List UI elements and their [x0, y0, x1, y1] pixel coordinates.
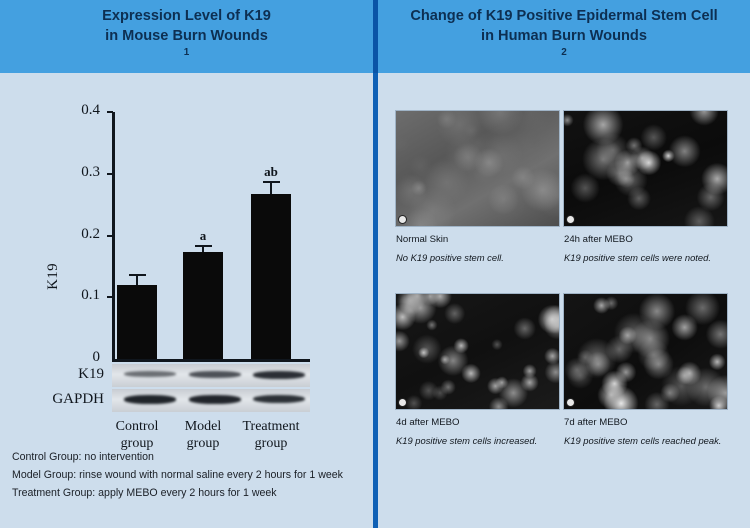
- y-tick-label-0: 0: [58, 349, 100, 366]
- blot-band-gapdh-2: [253, 395, 305, 403]
- scale-marker-icon: [567, 399, 574, 406]
- error-cap-2: [263, 181, 280, 183]
- micrograph-image-0: [396, 111, 559, 226]
- y-tick-label-4: 0.4: [58, 102, 100, 119]
- error-cap-1: [195, 245, 212, 247]
- left-title-line1: Expression Level of K19: [102, 6, 271, 26]
- micrograph-cell-1: 24h after MEBOK19 positive stem cells we…: [564, 111, 727, 263]
- bar-0: [117, 285, 157, 359]
- micrograph-caption-2: K19 positive stem cells increased.: [396, 435, 559, 446]
- scale-marker-icon: [399, 216, 406, 223]
- y-tick-mark-4: [107, 111, 113, 113]
- blot-label-k19: K19: [4, 366, 104, 383]
- left-title-footnote: 1: [184, 47, 190, 58]
- micrograph-cell-3: 7d after MEBOK19 positive stem cells rea…: [564, 294, 727, 446]
- x-axis-line: [112, 359, 310, 362]
- micrograph-title-3: 7d after MEBO: [564, 417, 727, 428]
- scale-marker-icon: [567, 216, 574, 223]
- micrograph-cell-0: Normal SkinNo K19 positive stem cell.: [396, 111, 559, 263]
- blot-label-gapdh: GAPDH: [4, 391, 104, 408]
- blot-band-k19-0: [124, 371, 176, 377]
- significance-label-1: a: [183, 228, 223, 244]
- y-axis-title: K19: [45, 263, 62, 290]
- bar-chart: K19 00.10.20.30.4 aab: [0, 73, 373, 363]
- blot-band-gapdh-0: [124, 395, 176, 404]
- y-tick-mark-3: [107, 173, 113, 175]
- left-panel: K19 00.10.20.30.4 aab K19 GAPDH Controlg…: [0, 73, 373, 528]
- micrograph-caption-1: K19 positive stem cells were noted.: [564, 252, 727, 263]
- blot-band-gapdh-1: [189, 395, 241, 404]
- y-tick-mark-2: [107, 235, 113, 237]
- figure-root: Expression Level of K19 in Mouse Burn Wo…: [0, 0, 750, 528]
- y-tick-mark-1: [107, 296, 113, 298]
- legend-note-control: Control Group: no intervention: [12, 448, 367, 466]
- scale-marker-icon: [399, 399, 406, 406]
- micrograph-cell-2: 4d after MEBOK19 positive stem cells inc…: [396, 294, 559, 446]
- left-title-line2: in Mouse Burn Wounds1: [102, 26, 271, 67]
- y-axis-line: [112, 112, 115, 361]
- right-title-line2: in Human Burn Wounds2: [410, 26, 717, 67]
- western-blot: [112, 363, 310, 413]
- right-title-line1: Change of K19 Positive Epidermal Stem Ce…: [410, 6, 717, 26]
- legend-notes: Control Group: no intervention Model Gro…: [12, 448, 367, 503]
- blot-band-k19-2: [253, 371, 305, 379]
- bar-2: [251, 194, 291, 359]
- left-panel-title: Expression Level of K19 in Mouse Burn Wo…: [0, 0, 373, 73]
- micrograph-caption-3: K19 positive stem cells reached peak.: [564, 435, 727, 446]
- micrograph-title-1: 24h after MEBO: [564, 234, 727, 245]
- legend-note-model: Model Group: rinse wound with normal sal…: [12, 466, 367, 484]
- micrograph-image-3: [564, 294, 727, 409]
- legend-note-treatment: Treatment Group: apply MEBO every 2 hour…: [12, 484, 367, 502]
- right-title-footnote: 2: [561, 47, 567, 58]
- micrograph-image-1: [564, 111, 727, 226]
- right-panel: Normal SkinNo K19 positive stem cell.24h…: [378, 73, 750, 528]
- y-tick-label-3: 0.3: [58, 164, 100, 181]
- y-tick-label-1: 0.1: [58, 287, 100, 304]
- y-tick-label-2: 0.2: [58, 226, 100, 243]
- bar-1: [183, 252, 223, 359]
- significance-label-2: ab: [251, 164, 291, 180]
- micrograph-title-0: Normal Skin: [396, 234, 559, 245]
- right-panel-title: Change of K19 Positive Epidermal Stem Ce…: [378, 0, 750, 73]
- micrograph-title-2: 4d after MEBO: [396, 417, 559, 428]
- error-cap-0: [129, 274, 146, 276]
- micrograph-image-2: [396, 294, 559, 409]
- micrograph-caption-0: No K19 positive stem cell.: [396, 252, 559, 263]
- blot-band-k19-1: [189, 371, 241, 378]
